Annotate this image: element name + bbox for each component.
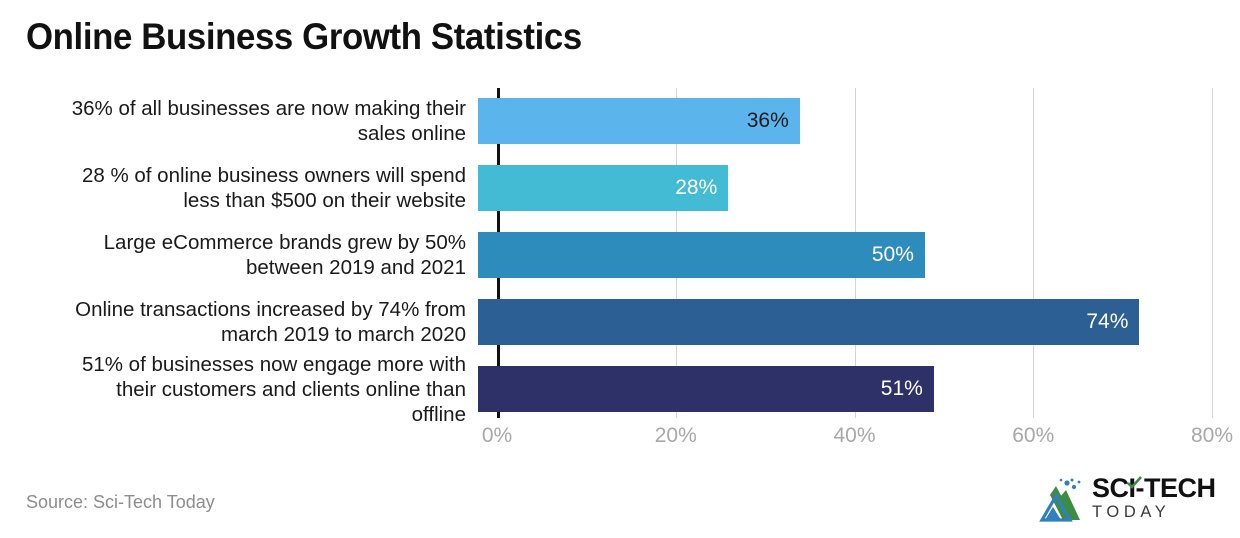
x-tick-label: 80% [1191, 424, 1233, 448]
bar-row: Large eCommerce brands grew by 50% betwe… [0, 222, 1240, 288]
source-note: Source: Sci-Tech Today [26, 492, 215, 513]
bar[interactable]: 36% [478, 98, 800, 144]
bar-value-label: 28% [675, 176, 728, 200]
bar-row: 36% of all businesses are now making the… [0, 88, 1240, 154]
bar[interactable]: 51% [478, 366, 934, 412]
x-tick-label: 60% [1012, 424, 1054, 448]
x-tick-label: 20% [655, 424, 697, 448]
check-icon [1127, 476, 1142, 489]
x-tick-label: 0% [482, 424, 512, 448]
chart-page: Online Business Growth Statistics 36% of… [0, 0, 1240, 538]
bar-track: 28% [478, 155, 1240, 221]
category-label: 28 % of online business owners will spen… [0, 163, 478, 213]
x-axis-tick-labels: 0%20%40%60%80% [0, 424, 1240, 454]
logo-wordmark: SCI-TECH TODAY [1092, 474, 1222, 522]
bar[interactable]: 28% [478, 165, 728, 211]
bar[interactable]: 74% [478, 299, 1139, 345]
bar-row: 51% of businesses now engage more with t… [0, 356, 1240, 422]
category-label: 36% of all businesses are now making the… [0, 96, 478, 146]
sci-tech-today-logo: SCI-TECH TODAY [1036, 472, 1222, 530]
bar-value-label: 51% [881, 377, 934, 401]
bar-value-label: 36% [747, 109, 800, 133]
x-tick-label: 40% [833, 424, 875, 448]
logo-brand-sub: TODAY [1092, 503, 1222, 522]
bar-track: 50% [478, 222, 1240, 288]
bar-row: 28 % of online business owners will spen… [0, 155, 1240, 221]
bar-track: 74% [478, 289, 1240, 355]
category-label: Online transactions increased by 74% fro… [0, 297, 478, 347]
bar-value-label: 74% [1086, 310, 1139, 334]
bar-row: Online transactions increased by 74% fro… [0, 289, 1240, 355]
logo-brand-main: SCI-TECH [1092, 474, 1222, 503]
bar-track: 51% [478, 356, 1240, 422]
category-label: 51% of businesses now engage more with t… [0, 352, 478, 427]
category-label: Large eCommerce brands grew by 50% betwe… [0, 230, 478, 280]
page-title: Online Business Growth Statistics [26, 16, 582, 58]
bar-value-label: 50% [872, 243, 925, 267]
logo-mark-icon [1036, 476, 1090, 524]
bar[interactable]: 50% [478, 232, 925, 278]
plot-area: 36% of all businesses are now making the… [0, 88, 1240, 428]
logo-brand-main-text: SCI-TECH [1092, 473, 1216, 503]
bar-track: 36% [478, 88, 1240, 154]
